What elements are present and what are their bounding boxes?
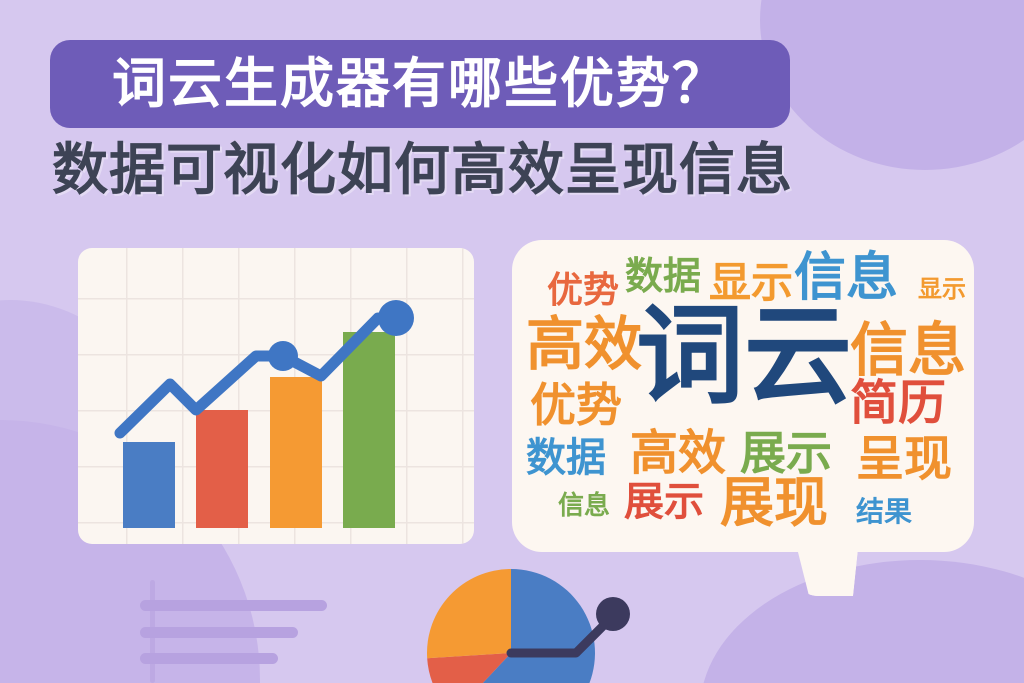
trend-line [78,248,474,544]
pie-slice [427,569,511,658]
decorative-line [140,653,278,664]
page-subtitle: 数据可视化如何高效呈现信息 [52,142,793,198]
wordcloud-word: 数据 [526,438,606,478]
bar-chart-card [78,248,474,544]
wordcloud-word: 展示 [740,430,832,476]
wordcloud-word: 高效 [630,430,726,478]
wordcloud-word: 数据 [625,258,701,296]
wordcloud-word: 显示 [918,278,966,302]
wordcloud-word: 信息 [558,492,610,518]
page-title: 词云生成器有哪些优势？ [112,57,728,111]
background-blob-top-right [760,0,1024,170]
decorative-line [140,600,327,611]
wordcloud-word: 词云 [636,302,852,410]
wordcloud-bubble: 优势数据显示信息显示高效词云信息优势简历数据高效展示呈现信息展示展现结果 [512,240,974,552]
pie-slices [427,569,595,683]
decorative-line [140,627,298,638]
wordcloud-word: 高效 [526,316,642,374]
wordcloud-word: 优势 [530,382,622,428]
background-blob-bottom-right [700,560,1024,683]
wordcloud-word: 简历 [850,380,946,428]
pie-connector-dot [596,597,630,631]
wordcloud-word: 优势 [547,272,619,308]
wordcloud-word: 呈现 [856,436,952,484]
wordcloud-word: 结果 [856,498,912,526]
poster-canvas: 词云生成器有哪些优势？ 数据可视化如何高效呈现信息 优势数据显示信息显示高效词云… [0,0,1024,683]
trend-marker [268,341,298,371]
wordcloud-word: 展现 [720,476,828,530]
wordcloud-word: 信息 [850,322,966,380]
title-badge: 词云生成器有哪些优势？ [50,40,790,128]
pie-chart [398,556,688,683]
wordcloud-word: 展示 [624,482,704,522]
trend-marker [378,300,414,336]
